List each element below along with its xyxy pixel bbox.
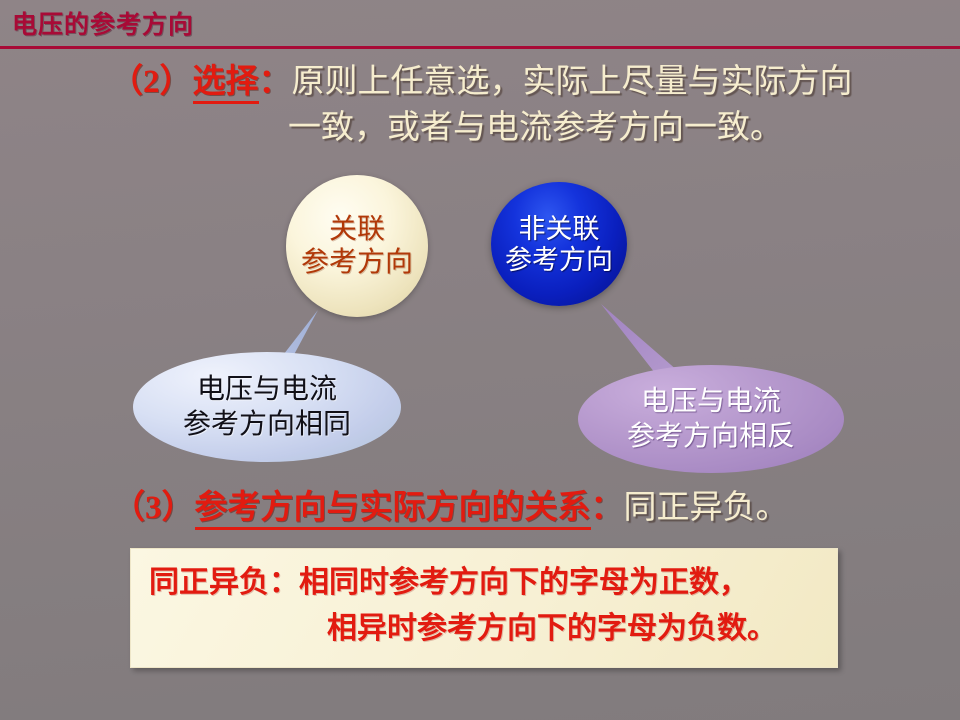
point-3-colon: ： (591, 490, 624, 526)
point-2-text-line-2: 一致，或者与电流参考方向一致。 (288, 108, 783, 148)
point-3-number: （3） (112, 490, 195, 526)
callout-same-line-1: 电压与电流 (197, 372, 337, 407)
callout-opposite-line-1: 电压与电流 (641, 384, 781, 419)
circle-nonassociated-line-1: 非关联 (519, 213, 600, 245)
summary-box-line-2: 相异时参考方向下的字母为负数。 (327, 611, 777, 647)
point-2-text-line-1: 原则上任意选，实际上尽量与实际方向 (292, 64, 853, 100)
slide-canvas: 电压的参考方向 （2）选择：原则上任意选，实际上尽量与实际方向 一致，或者与电流… (0, 0, 960, 720)
callout-opposite-line-2: 参考方向相反 (627, 419, 795, 454)
summary-box: 同正异负：相同时参考方向下的字母为正数， 相异时参考方向下的字母为负数。 (130, 548, 838, 668)
callout-opposite-direction: 电压与电流 参考方向相反 (578, 365, 844, 473)
slide-title-bar: 电压的参考方向 (0, 8, 960, 48)
point-2-line-1: （2）选择：原则上任意选，实际上尽量与实际方向 (110, 62, 853, 102)
point-3-text: 同正异负。 (624, 490, 789, 526)
circle-associated-line-2: 参考方向 (301, 246, 413, 279)
point-2-colon: ： (259, 64, 292, 100)
circle-associated-line-1: 关联 (329, 213, 385, 246)
circle-nonassociated-direction: 非关联 参考方向 (491, 182, 627, 306)
title-underline-rule (0, 46, 960, 49)
point-3-label: 参考方向与实际方向的关系 (195, 490, 591, 530)
page-title: 电压的参考方向 (12, 10, 194, 40)
callout-same-direction: 电压与电流 参考方向相同 (133, 352, 401, 462)
point-2-label: 选择 (193, 64, 259, 104)
point-3-line: （3）参考方向与实际方向的关系：同正异负。 (112, 488, 789, 528)
circle-nonassociated-line-2: 参考方向 (505, 244, 613, 276)
summary-box-line-1: 同正异负：相同时参考方向下的字母为正数， (149, 565, 749, 601)
circle-associated-direction: 关联 参考方向 (286, 175, 428, 317)
point-2-number: （2） (110, 64, 193, 100)
callout-same-line-2: 参考方向相同 (183, 407, 351, 442)
